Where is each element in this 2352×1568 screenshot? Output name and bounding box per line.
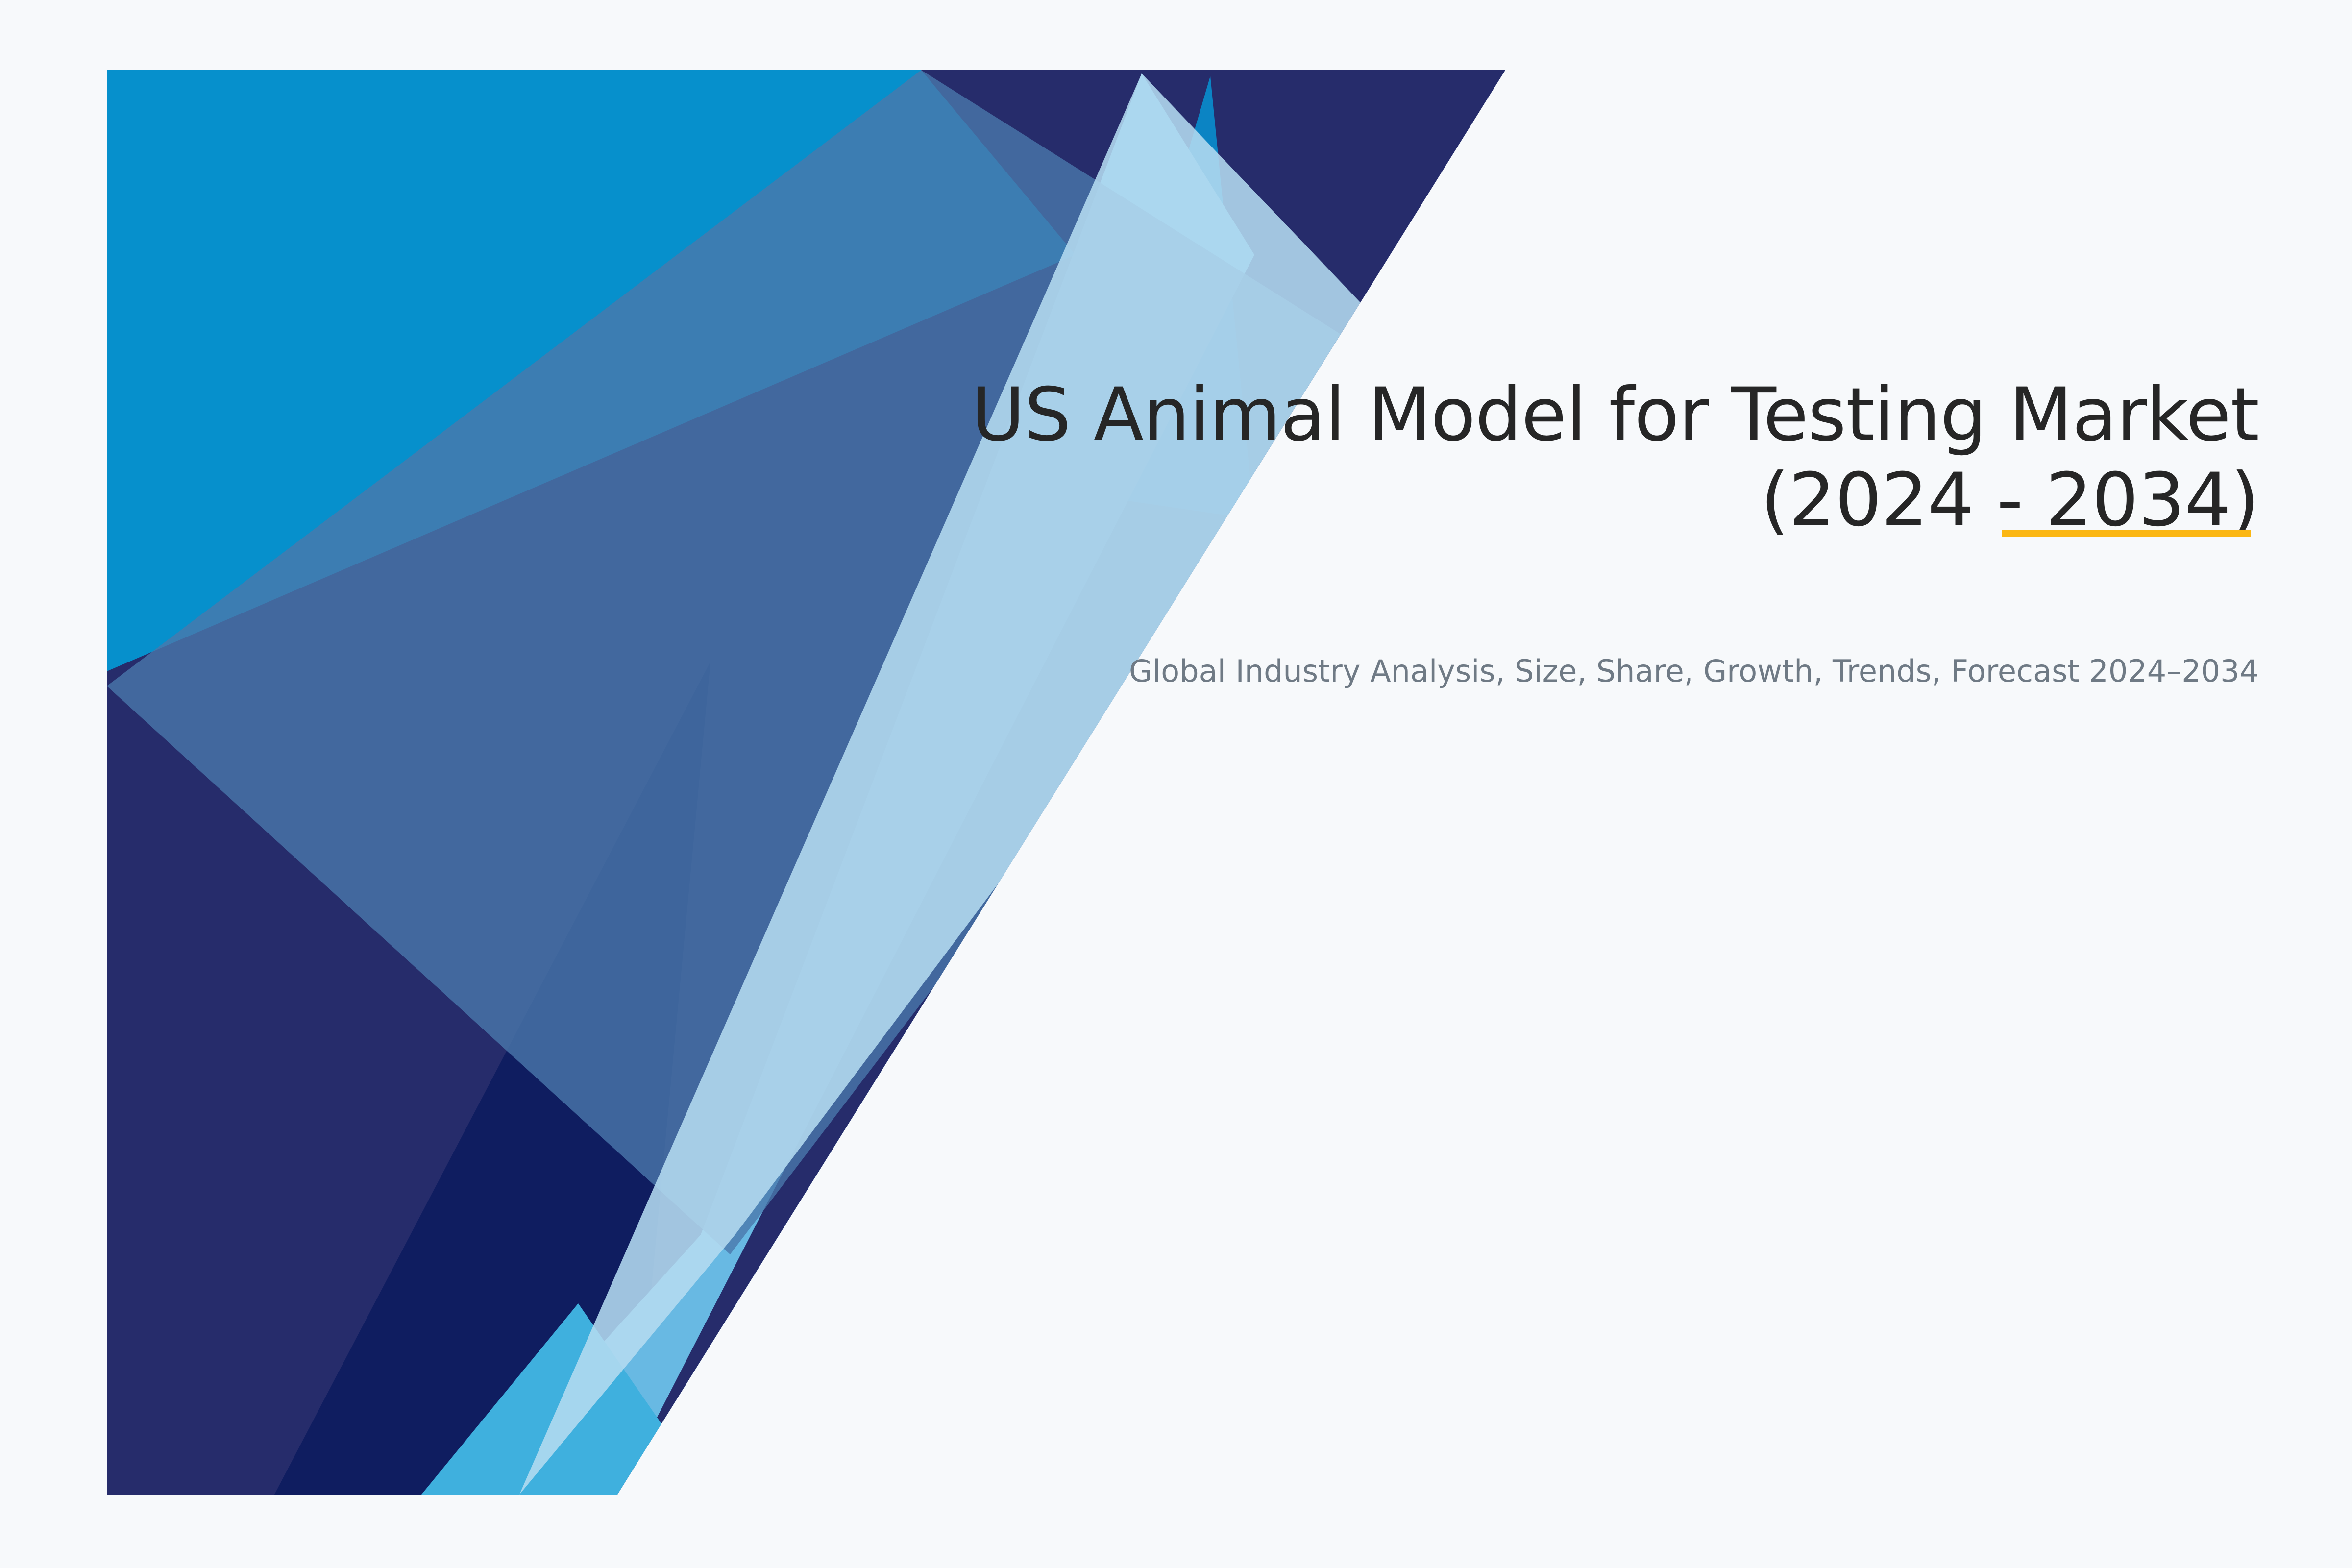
cover-title-block: US Animal Model for Testing Market (2024… xyxy=(833,372,2259,543)
page-title: US Animal Model for Testing Market (2024… xyxy=(833,372,2259,543)
cover-page: US Animal Model for Testing Market (2024… xyxy=(0,0,2352,1568)
title-accent-underline xyxy=(2002,530,2251,537)
decorative-geometric-artwork xyxy=(0,0,2352,1568)
page-subtitle: Global Industry Analysis, Size, Share, G… xyxy=(833,652,2259,690)
